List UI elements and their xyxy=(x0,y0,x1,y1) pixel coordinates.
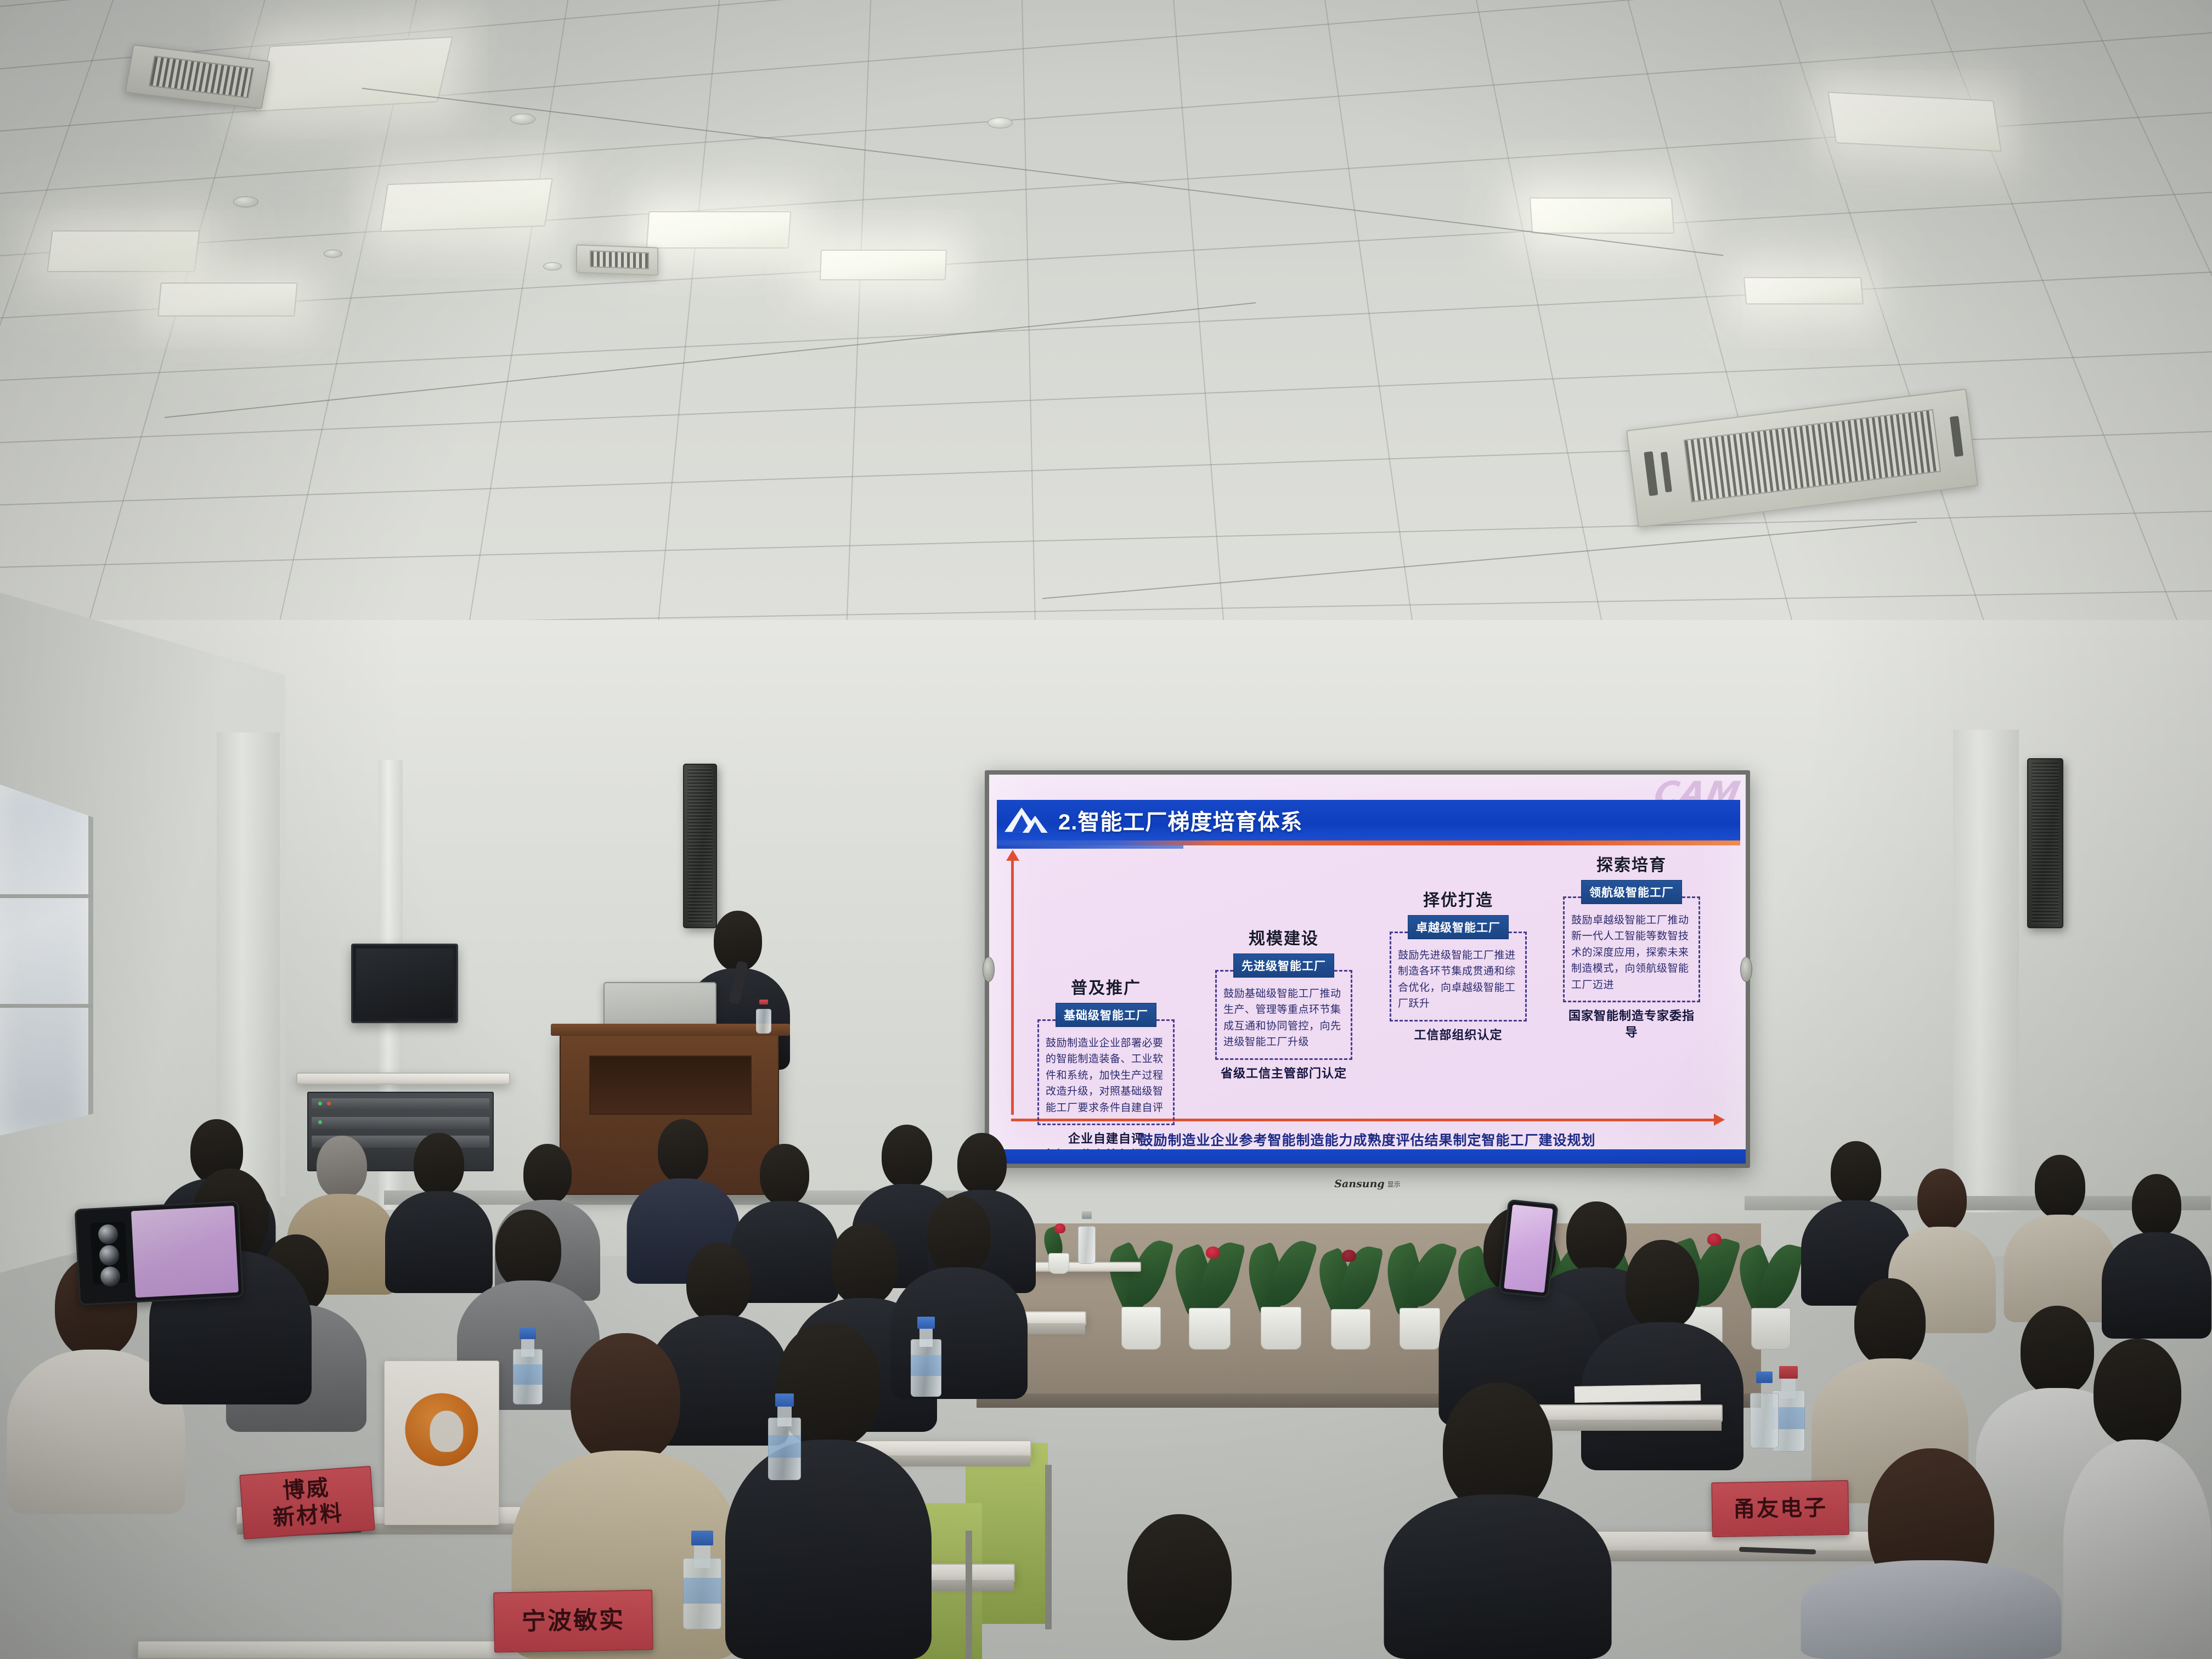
plant-leaf xyxy=(1195,1238,1245,1314)
slide-title-bar: 2.智能工厂梯度培育体系 xyxy=(997,800,1740,840)
potted-plant xyxy=(1246,1230,1316,1350)
water-bottle xyxy=(911,1317,941,1397)
monitor-screen xyxy=(356,949,453,1018)
ceiling-tile-line xyxy=(456,0,577,647)
plant-pot xyxy=(1121,1307,1161,1350)
column-description: 鼓励制造业企业部署必要的智能制造装备、工业软件和系统，加快生产过程改造升级，对照… xyxy=(1037,1019,1175,1125)
column-stage-label: 规模建设 xyxy=(1215,925,1352,949)
bottle-body xyxy=(1750,1393,1779,1448)
audience-head xyxy=(882,1125,932,1188)
status-led xyxy=(318,1120,322,1124)
bottle-label xyxy=(911,1355,941,1376)
presentation-slide: CAM 2.智能工厂梯度培育体系 普及推广 基础级智能工厂 xyxy=(989,775,1746,1164)
wall-speaker-left xyxy=(683,764,717,928)
audience-head xyxy=(495,1210,561,1290)
plant-pot xyxy=(1189,1308,1231,1350)
audience-body xyxy=(725,1440,932,1659)
ceiling-tile-line xyxy=(1020,0,1037,647)
ceiling-tile-line xyxy=(843,0,873,647)
wall-speaker-right xyxy=(2027,758,2063,928)
column-stage-label: 择优打造 xyxy=(1390,887,1527,911)
audience-member xyxy=(2002,1155,2118,1322)
ceiling-light xyxy=(646,211,792,249)
diagram-column-2: 规模建设 先进级智能工厂 鼓励基础级智能工厂推动生产、管理等重点环节集成互通和协… xyxy=(1215,925,1352,1081)
plant-flower xyxy=(1206,1246,1220,1259)
bottle-label xyxy=(768,1435,801,1458)
audience-body xyxy=(2063,1440,2211,1659)
display-brand-logo: Sansung 显示 xyxy=(1330,1177,1405,1191)
column-stage-label: 探索培育 xyxy=(1563,851,1700,876)
bottle-cap xyxy=(917,1317,934,1329)
ceiling-light xyxy=(1827,92,2001,152)
name-card-text: 宁波敏实 xyxy=(522,1606,625,1637)
vent-slot xyxy=(1644,452,1658,496)
column-chip-label: 领航级智能工厂 xyxy=(1581,880,1682,904)
slide-title: 2.智能工厂梯度培育体系 xyxy=(1058,804,1302,836)
table-name-card: 甬友电子 xyxy=(1711,1480,1849,1537)
potted-plant-small xyxy=(1042,1219,1075,1274)
mountain-triangle-logo xyxy=(1005,805,1049,836)
plant-pot xyxy=(1261,1307,1301,1350)
window-mullion xyxy=(0,894,93,898)
wall-column xyxy=(1953,730,2019,1212)
plant-pot xyxy=(1048,1253,1069,1274)
vent-slot xyxy=(1661,452,1672,492)
audience-head xyxy=(760,1144,809,1205)
bottle-neck xyxy=(521,1337,534,1357)
vent-grille xyxy=(1683,409,1941,503)
brand-subtext: 显示 xyxy=(1387,1180,1401,1189)
bottle-body xyxy=(756,1009,771,1034)
ceiling-tile-line xyxy=(1169,0,1231,647)
ceiling-tile-line xyxy=(1909,0,2193,647)
table-name-card: 宁波敏实 xyxy=(493,1589,653,1652)
audience-head xyxy=(927,1196,991,1275)
smoke-detector xyxy=(233,196,258,207)
vent-grille xyxy=(590,250,649,269)
audience-desk xyxy=(137,1640,554,1659)
audience-head xyxy=(686,1243,751,1323)
ceiling-tile-line xyxy=(0,264,2212,386)
desk-leg xyxy=(966,1531,972,1659)
brand-name: Sansung xyxy=(1334,1178,1384,1190)
bottle-neck xyxy=(777,1404,792,1426)
audience-head xyxy=(658,1119,708,1183)
audience-head xyxy=(1127,1514,1232,1640)
podium-top-surface xyxy=(551,1024,790,1036)
audience-head xyxy=(1854,1278,1926,1366)
plant-pot xyxy=(1331,1309,1370,1350)
column-description: 鼓励基础级智能工厂推动生产、管理等重点环节集成互通和协同管控，向先进级智能工厂升… xyxy=(1215,970,1352,1060)
smoke-detector xyxy=(510,114,535,125)
phone-camera-lens xyxy=(98,1224,119,1245)
ceiling-light xyxy=(1743,277,1864,304)
bottle-cap xyxy=(1082,1211,1092,1219)
water-bottle xyxy=(756,1000,771,1034)
plant-flower xyxy=(1054,1223,1065,1233)
rack-unit xyxy=(312,1098,489,1110)
plant-flower xyxy=(1342,1250,1356,1262)
projection-screen[interactable]: CAM 2.智能工厂梯度培育体系 普及推广 基础级智能工厂 xyxy=(985,770,1750,1168)
ceiling-tile-line xyxy=(0,0,133,647)
smartphone-camera[interactable] xyxy=(1498,1199,1558,1299)
audience-member-foreground xyxy=(1070,1514,1289,1659)
column-footer: 国家智能制造专家委指导 xyxy=(1563,1008,1700,1040)
bottle-neck xyxy=(919,1327,933,1347)
column-description: 鼓励卓越级智能工厂推动新一代人工智能等数智技术的深度应用，探索未来制造模式，向领… xyxy=(1563,896,1700,1002)
tote-logo-face xyxy=(430,1411,464,1452)
ceiling-tile-line xyxy=(0,507,2212,571)
audience-body xyxy=(1384,1494,1612,1659)
ceiling-tile-line xyxy=(0,0,2212,18)
speaker-grille xyxy=(2032,763,2059,924)
bottle-label xyxy=(683,1578,721,1604)
tote-bag xyxy=(384,1361,499,1525)
screen-side-knob-right[interactable] xyxy=(1740,957,1752,982)
audience-body xyxy=(1801,1560,2062,1659)
diagram-vertical-axis-arrow xyxy=(1011,858,1014,1115)
bottle-cap xyxy=(775,1393,794,1407)
water-bottle xyxy=(683,1531,721,1629)
smoke-detector xyxy=(324,250,342,258)
ceiling-light xyxy=(255,36,453,111)
audience-head xyxy=(1831,1141,1881,1205)
plant-pot xyxy=(1751,1308,1791,1350)
podium-front-panel xyxy=(589,1056,752,1115)
column-description: 鼓励先进级智能工厂推进制造各环节集成贯通和综合优化，向卓越级智能工厂跃升 xyxy=(1390,932,1527,1022)
slide-bottom-banner: 鼓励制造业企业参考智能制造能力成熟度评估结果制定智能工厂建设规划 xyxy=(989,1130,1746,1149)
smoke-detector xyxy=(543,262,562,270)
phone-camera-lens xyxy=(100,1266,121,1286)
screen-side-knob-left[interactable] xyxy=(983,957,995,982)
phone-screen-preview xyxy=(1504,1205,1553,1293)
ceiling-light xyxy=(157,283,297,317)
audience-head xyxy=(571,1333,680,1465)
bottle-body xyxy=(1078,1226,1096,1264)
water-bottle xyxy=(513,1328,543,1404)
rack-unit xyxy=(312,1117,489,1129)
thermos-bottle xyxy=(1078,1211,1096,1264)
ceiling-light xyxy=(380,178,553,232)
slide-diagram: 普及推广 基础级智能工厂 鼓励制造业企业部署必要的智能制造装备、工业软件和系统，… xyxy=(1011,858,1724,1121)
tote-bag-logo xyxy=(405,1393,478,1466)
bottle-cap xyxy=(520,1328,536,1339)
table-name-card: 博威 新材料 xyxy=(239,1466,375,1539)
bottle-neck xyxy=(694,1543,711,1568)
audience-head xyxy=(957,1133,1007,1194)
bottle-neck xyxy=(1781,1376,1796,1399)
speaker-grille xyxy=(687,768,713,924)
audience-head xyxy=(831,1223,898,1306)
audience-head xyxy=(317,1136,367,1198)
column-footer: 省级工信主管部门认定 xyxy=(1215,1065,1352,1082)
vent-slot xyxy=(1949,416,1963,457)
phone-screen-preview xyxy=(131,1206,239,1298)
phone-camera-lens xyxy=(99,1245,120,1266)
smoke-detector xyxy=(988,117,1013,128)
bottle-label xyxy=(513,1364,543,1384)
name-card-text: 甬友电子 xyxy=(1733,1495,1828,1523)
plant-pot xyxy=(1400,1308,1440,1350)
potted-plant xyxy=(1108,1229,1174,1350)
audience-head xyxy=(2132,1174,2181,1237)
water-bottle xyxy=(768,1393,801,1480)
status-led xyxy=(318,1102,322,1105)
bottle-cap xyxy=(1756,1372,1772,1383)
bottle-cap xyxy=(691,1531,713,1545)
ceiling-air-vent xyxy=(576,244,658,275)
bottle-cap xyxy=(1779,1366,1798,1379)
potted-plant xyxy=(1737,1232,1805,1350)
slide-title-underline xyxy=(997,840,1740,845)
column-stage-label: 普及推广 xyxy=(1037,974,1175,998)
desk-leg xyxy=(1045,1465,1052,1629)
bottle-cap xyxy=(759,1000,768,1005)
ceiling-light xyxy=(820,250,947,280)
slide-footer-bar xyxy=(989,1149,1746,1164)
column-chip-label: 卓越级智能工厂 xyxy=(1408,915,1509,939)
ceiling-light xyxy=(1530,198,1675,234)
audience-head xyxy=(523,1144,572,1204)
ceiling-tile-line xyxy=(2057,0,2212,641)
column-chip-label: 先进级智能工厂 xyxy=(1233,953,1334,978)
diagram-column-3: 择优打造 卓越级智能工厂 鼓励先进级智能工厂推进制造各环节集成贯通和综合优化，向… xyxy=(1390,887,1527,1043)
ceiling-tile-line xyxy=(1613,0,1810,647)
ceiling-light xyxy=(47,230,200,272)
audience-head xyxy=(414,1133,464,1195)
audience-member-foreground xyxy=(1383,1383,1613,1659)
potted-plant xyxy=(1174,1233,1245,1350)
water-bottle xyxy=(1750,1372,1779,1448)
av-monitor[interactable] xyxy=(351,944,458,1023)
name-card-text: 博威 新材料 xyxy=(270,1474,344,1532)
audience-head xyxy=(1626,1240,1699,1330)
audience-member-foreground xyxy=(724,1322,933,1659)
audience-head xyxy=(1917,1169,1967,1231)
potted-plant xyxy=(1317,1234,1385,1350)
column-footer: 工信部组织认定 xyxy=(1390,1027,1527,1043)
paper-sheet xyxy=(1575,1384,1701,1403)
window xyxy=(0,785,93,1136)
av-table xyxy=(296,1073,510,1085)
phone-camera-module xyxy=(89,1221,128,1284)
conference-room-photo: CAM 2.智能工厂梯度培育体系 普及推广 基础级智能工厂 xyxy=(0,0,2212,1659)
audience-member-foreground xyxy=(2063,1339,2212,1659)
slide-top-strip: CAM xyxy=(989,775,1746,800)
diagram-column-4: 探索培育 领航级智能工厂 鼓励卓越级智能工厂推动新一代人工智能等数智技术的深度应… xyxy=(1563,851,1700,1041)
window-mullion xyxy=(0,1004,93,1008)
audience-head xyxy=(2035,1155,2085,1218)
slide-title-underline-accent xyxy=(997,845,1183,849)
smartphone-camera[interactable] xyxy=(75,1200,244,1305)
vent-grille xyxy=(149,55,255,98)
audience-head xyxy=(2093,1339,2181,1446)
column-chip-label: 基础级智能工厂 xyxy=(1056,1003,1156,1027)
status-led xyxy=(327,1102,331,1105)
